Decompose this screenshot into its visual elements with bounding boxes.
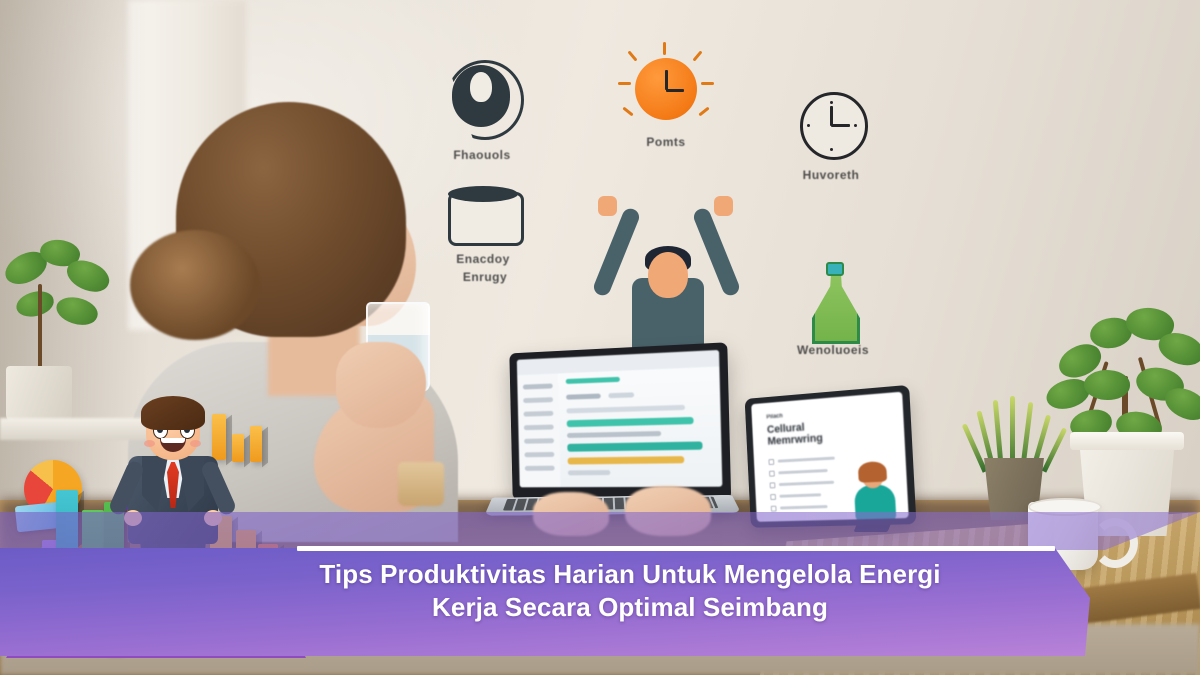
teeth (161, 438, 185, 443)
hair (141, 396, 205, 430)
woman-hand (336, 342, 426, 428)
clock-hand-hour (831, 124, 850, 127)
clock-tick (830, 148, 833, 151)
leaf (53, 292, 101, 330)
screen-row (566, 405, 685, 414)
stem (38, 284, 42, 368)
bar (232, 434, 244, 462)
checkbox-icon (769, 471, 775, 477)
hydration-label: Wenoluoeis (797, 343, 869, 357)
laptop-lid (509, 342, 731, 500)
pot-rim (1070, 432, 1184, 450)
page-title: Tips Produktivitas Harian Untuk Mengelol… (230, 558, 1030, 624)
tablet-heading-line2: Memrwring (767, 432, 823, 447)
article-hero-banner: Pomts Huvoreth Fhaouols Enacdoy Enrugy W… (0, 0, 1200, 675)
banner-translucent-band (0, 512, 1200, 550)
progress-bar (567, 417, 694, 427)
checklist-row (779, 493, 821, 497)
tablet-body: Pilach Cellural Memrwring (745, 385, 917, 528)
screen-badge (566, 377, 620, 384)
clock-tick (830, 101, 833, 104)
leaf (14, 288, 56, 319)
sun-clock-hand-minute (665, 70, 668, 90)
checkbox-icon (770, 482, 776, 488)
cheer-fist-right (714, 196, 733, 216)
bar (250, 426, 262, 462)
cheer-fist-left (598, 196, 617, 216)
sun-clock-hand-hour (666, 89, 684, 92)
banner-divider (297, 546, 1055, 551)
screen-row (566, 394, 601, 400)
clock-tick (807, 124, 810, 127)
checkbox-icon (768, 459, 774, 465)
cheer-head (648, 252, 688, 298)
sun-ray (622, 107, 633, 117)
sidebar-row (524, 411, 554, 417)
sidebar-row (524, 452, 554, 457)
checklist-row (778, 457, 835, 463)
page-title-line1: Tips Produktivitas Harian Untuk Mengelol… (319, 559, 940, 589)
progress-bar (568, 456, 685, 464)
checklist-row (778, 469, 827, 474)
laptop (505, 348, 740, 538)
sidebar-row (525, 466, 555, 471)
sidebar-row (524, 438, 554, 443)
screen-row (568, 470, 610, 475)
screen-row (567, 431, 661, 438)
cheek-left (144, 440, 155, 447)
laptop-screen (517, 350, 723, 487)
wooden-cup (398, 462, 444, 506)
clock-tick (854, 124, 857, 127)
water-bottle-icon (812, 270, 860, 344)
progress-bar (567, 441, 702, 451)
hours-label: Huvoreth (803, 168, 860, 182)
checkbox-icon (771, 506, 777, 512)
tablet-kicker: Pilach (766, 413, 783, 420)
sun-ray (701, 82, 714, 85)
clock-hand-minute (830, 106, 833, 126)
checklist-row (779, 481, 834, 486)
woman-hair-bun (130, 230, 260, 340)
page-title-line2: Kerja Secara Optimal Seimbang (432, 592, 828, 622)
sun-ray (618, 82, 631, 85)
sidebar-row (523, 397, 553, 403)
sun-ray (627, 50, 637, 61)
sun-ray (698, 107, 709, 117)
cheek-right (190, 440, 201, 447)
sun-ray (692, 50, 702, 61)
sun-label: Pomts (646, 135, 685, 149)
tablet-screen: Pilach Cellural Memrwring (751, 392, 909, 522)
bottle-cap-icon (826, 262, 844, 276)
screen-row (608, 392, 634, 398)
sun-ray (663, 42, 666, 55)
checklist-row (780, 505, 828, 509)
sidebar-row (524, 425, 554, 431)
person-hair (858, 461, 887, 483)
checkbox-icon (770, 494, 776, 500)
app-topbar (517, 350, 720, 375)
